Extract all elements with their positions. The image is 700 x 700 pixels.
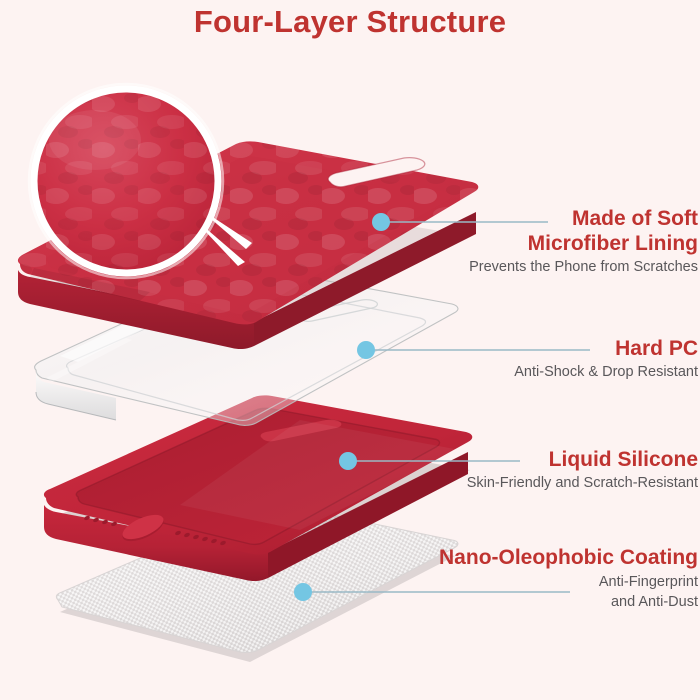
callout-hardpc: Hard PC Anti-Shock & Drop Resistant bbox=[278, 336, 698, 382]
infographic-stage: Four-Layer Structure bbox=[0, 0, 700, 700]
callout-microfiber-title: Made of Soft Microfiber Lining bbox=[278, 206, 698, 256]
callout-nano: Nano-Oleophobic Coating Anti-Fingerprint… bbox=[268, 545, 698, 612]
callout-nano-title: Nano-Oleophobic Coating bbox=[268, 545, 698, 570]
callout-hardpc-subtitle: Anti-Shock & Drop Resistant bbox=[278, 363, 698, 382]
callout-silicone-subtitle: Skin-Friendly and Scratch-Resistant bbox=[278, 474, 698, 493]
callout-microfiber-subtitle: Prevents the Phone from Scratches bbox=[278, 258, 698, 277]
callout-hardpc-title: Hard PC bbox=[278, 336, 698, 361]
callout-silicone: Liquid Silicone Skin-Friendly and Scratc… bbox=[278, 447, 698, 493]
callout-microfiber: Made of Soft Microfiber Lining Prevents … bbox=[278, 206, 698, 277]
callout-nano-subtitle: Anti-Fingerprint and Anti-Dust bbox=[268, 572, 698, 612]
callout-silicone-title: Liquid Silicone bbox=[278, 447, 698, 472]
